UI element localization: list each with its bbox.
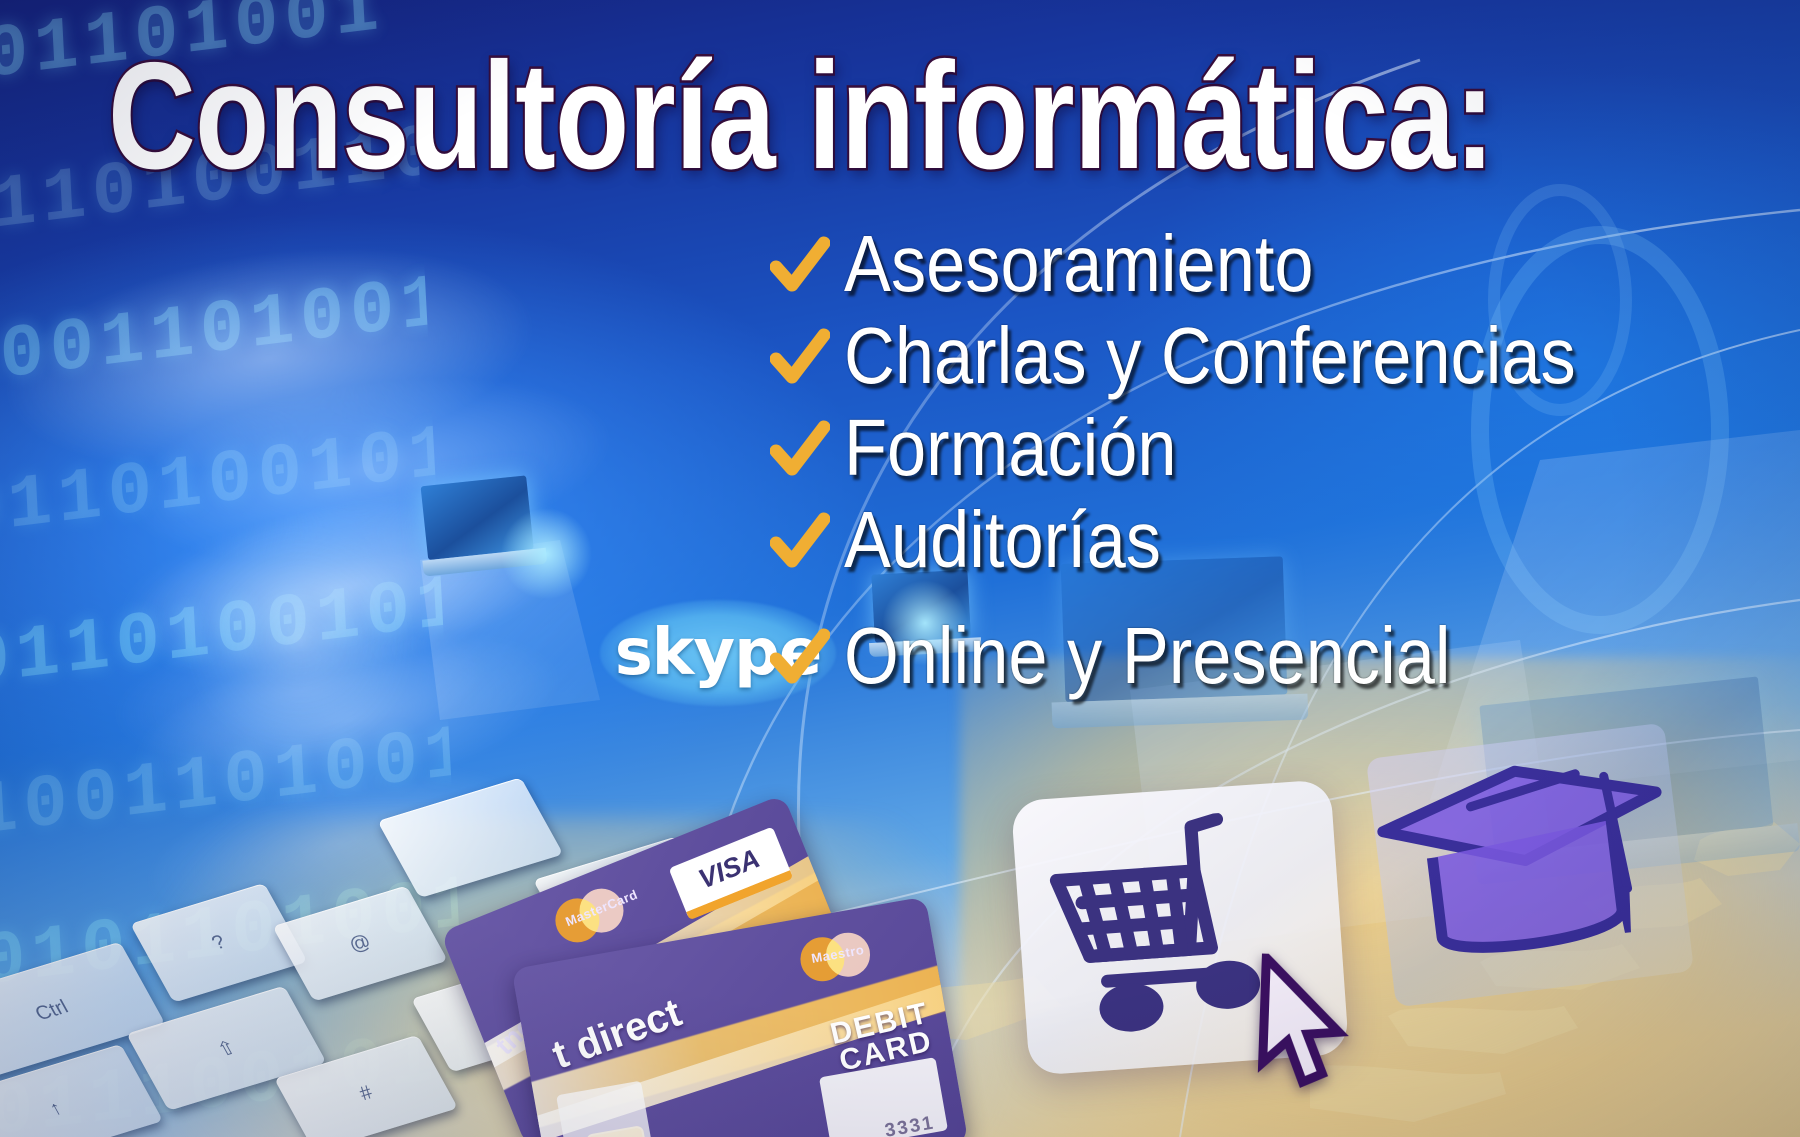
check-icon	[770, 621, 830, 691]
credit-cards-group: MasterCard VISA tnership Maestro DEBITCA…	[470, 855, 990, 1137]
list-item-label: Asesoramiento	[844, 222, 1314, 306]
key-arrow-up: ↑	[0, 1044, 163, 1137]
list-item-label: Online y Presencial	[844, 614, 1451, 698]
key-hash: #	[274, 1035, 458, 1137]
mastercard-icon: MasterCard	[549, 882, 631, 951]
binary-row: 10011010011	[0, 230, 430, 439]
list-item-formacion: Formación	[770, 402, 1790, 494]
mouse-cursor-icon[interactable]	[1253, 953, 1354, 1096]
binary-row: 010110100110	[0, 831, 462, 1040]
check-icon	[770, 413, 830, 483]
page-title: Consultoría informática:	[108, 40, 1494, 192]
graduation-cap-icon	[1363, 733, 1689, 998]
binary-row: 011010010110	[0, 381, 438, 590]
list-item-asesoramiento: Asesoramiento	[770, 218, 1790, 310]
binary-row: 1001101001101	[0, 681, 454, 890]
list-item-online-presencial: Online y Presencial	[770, 602, 1790, 710]
binary-row: 0110100101	[0, 531, 446, 740]
list-item-label: Auditorías	[844, 498, 1161, 582]
key-at: @	[272, 886, 448, 1002]
typing-hands-photo	[0, 96, 799, 824]
check-icon	[770, 505, 830, 575]
key-question: ?	[130, 883, 307, 1003]
cart-wheel-left	[1098, 981, 1165, 1033]
list-item-label: Formación	[844, 406, 1177, 490]
list-item-charlas: Charlas y Conferencias	[770, 310, 1790, 402]
cart-wheel-right	[1195, 959, 1262, 1011]
check-icon	[770, 229, 830, 299]
check-icon	[770, 321, 830, 391]
binary-row: 01110010110	[0, 981, 470, 1137]
list-item-auditorias: Auditorías	[770, 494, 1790, 586]
graduation-cap-tile	[1366, 723, 1694, 1008]
key-shift: ⇧	[126, 986, 326, 1111]
list-item-label: Charlas y Conferencias	[844, 314, 1576, 398]
maestro-icon: Maestro	[797, 929, 874, 986]
laptop-icon-left	[415, 474, 556, 597]
promo-banner: 101101001 0110100110 10011010011 0110100…	[0, 0, 1800, 1137]
services-list: Asesoramiento Charlas y Conferencias For…	[770, 218, 1790, 710]
key-ctrl: Ctrl	[0, 942, 165, 1080]
